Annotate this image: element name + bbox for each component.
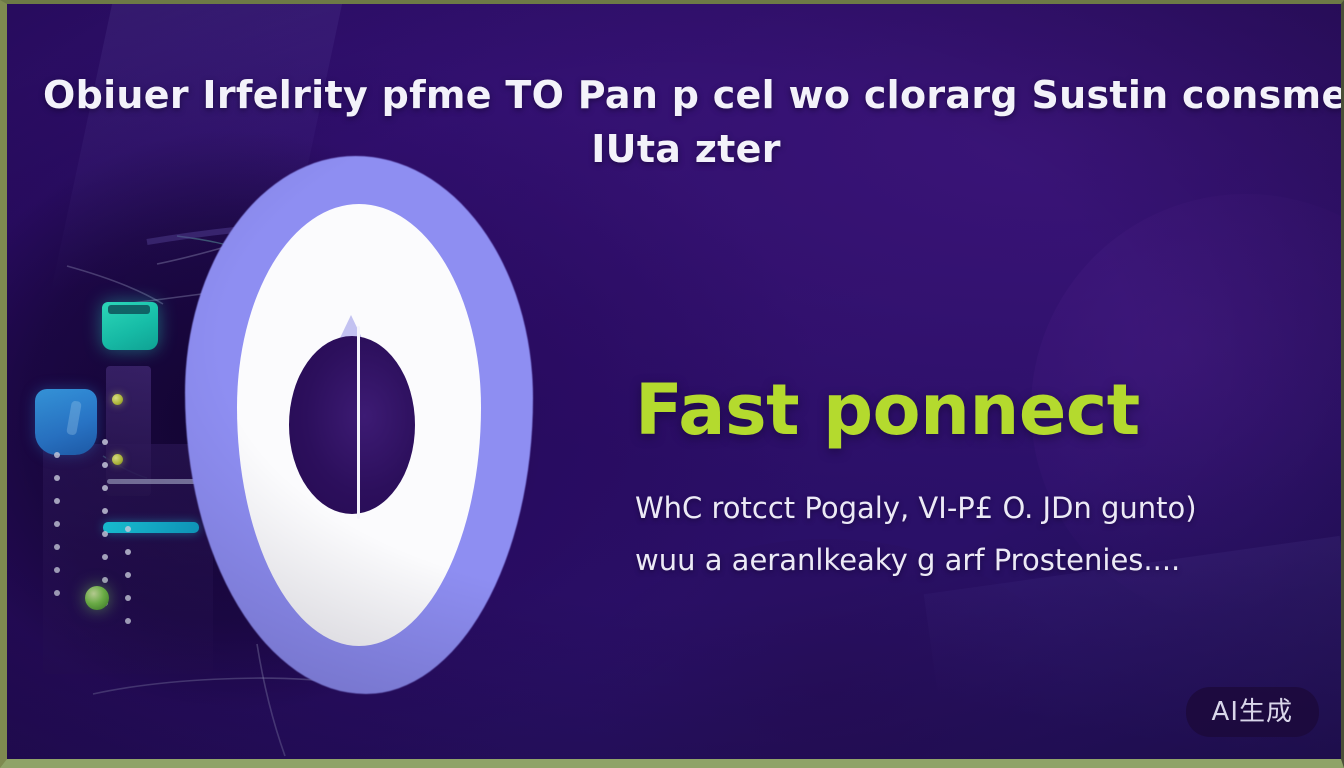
poster-title-line-1: Obiuer Irfelrity pfme TO Pan p cel wo cl… bbox=[43, 68, 1329, 122]
poster-canvas: Obiuer Irfelrity pfme TO Pan p cel wo cl… bbox=[0, 0, 1344, 768]
poster-body-copy: WhC rotcct Pogaly, VI-P£ O. JDn gunto) w… bbox=[635, 482, 1295, 586]
poster-title-line-2: IUta zter bbox=[43, 122, 1329, 176]
poster-title: Obiuer Irfelrity pfme TO Pan p cel wo cl… bbox=[43, 68, 1329, 176]
poster-body-line-2: wuu a aeranlkeaky g arf Prostenies.... bbox=[635, 534, 1295, 586]
ai-generated-badge: AI生成 bbox=[1186, 687, 1319, 737]
poster-body-line-1: WhC rotcct Pogaly, VI-P£ O. JDn gunto) bbox=[635, 482, 1295, 534]
poster-headline: Fast ponnect bbox=[635, 370, 1140, 450]
